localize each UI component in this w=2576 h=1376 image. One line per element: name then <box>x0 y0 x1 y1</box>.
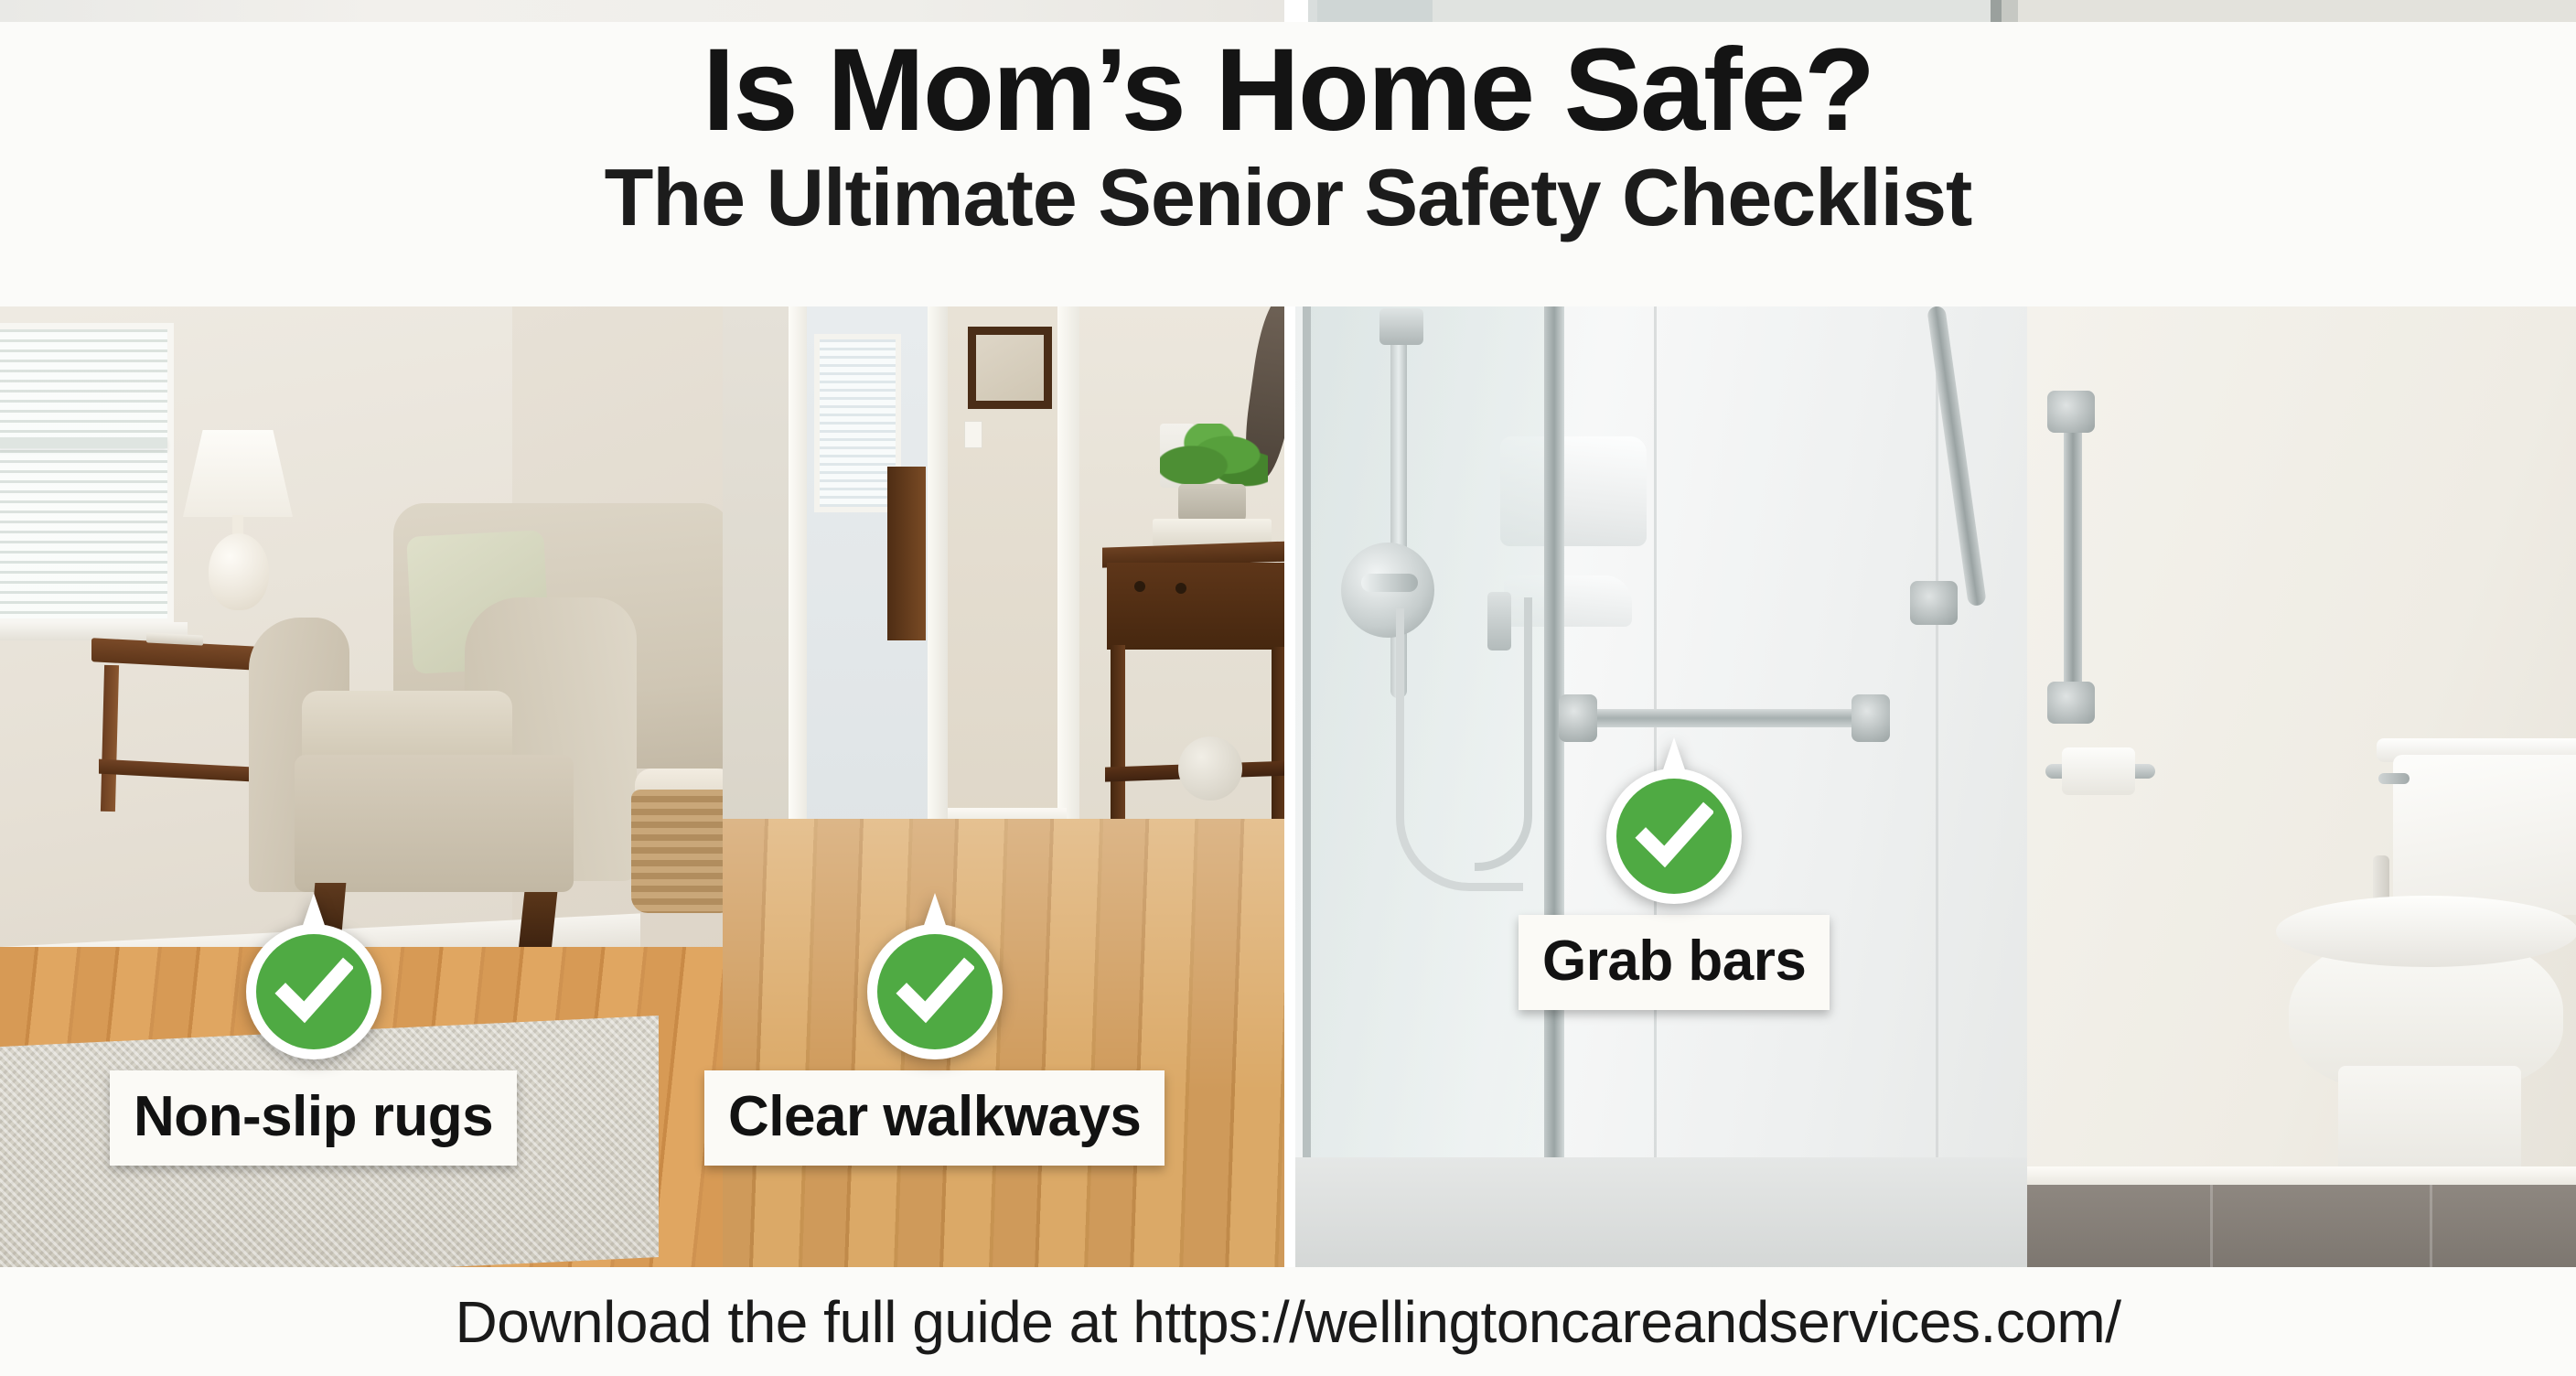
tile-grout-line <box>2430 1185 2432 1267</box>
toilet-seat <box>2276 896 2576 967</box>
checkmark-icon <box>896 952 974 1031</box>
window-blinds <box>0 329 167 618</box>
shower-floor-pan <box>1295 1157 2027 1267</box>
grab-bar-flange <box>1851 694 1890 742</box>
marker-clear-walkways[interactable]: Clear walkways <box>704 924 1165 1166</box>
checkmark-icon <box>1635 797 1713 876</box>
marker-non-slip-rugs[interactable]: Non-slip rugs <box>110 924 517 1166</box>
download-guide-text[interactable]: Download the full guide at https://welli… <box>456 1288 2121 1356</box>
checkmark-icon <box>274 952 353 1031</box>
grab-bar-flange <box>1910 581 1958 625</box>
dark-wood-cabinet <box>887 467 926 640</box>
armchair-base <box>295 755 574 892</box>
badge-circle <box>1616 779 1732 894</box>
drawer-knob <box>1134 581 1145 592</box>
senior-safety-poster: Is Mom’s Home Safe? The Ultimate Senior … <box>0 0 2576 1376</box>
shower-valve-lever <box>1361 574 1418 592</box>
page-title: Is Mom’s Home Safe? <box>0 22 2576 152</box>
potted-plant-foliage <box>1160 424 1268 493</box>
toilet-paper-roll <box>2062 747 2135 795</box>
check-circle-icon <box>867 924 1003 1059</box>
blind-rail <box>0 437 167 448</box>
shower-grab-bar-horizontal <box>1570 709 1872 727</box>
console-table-leg <box>1272 647 1284 821</box>
decorative-orb <box>1178 736 1242 801</box>
light-switch <box>964 421 982 448</box>
bathroom-photo <box>1295 306 2576 1267</box>
toilet-tank <box>2393 755 2576 915</box>
badge-circle <box>877 934 993 1049</box>
marker-label-non-slip-rugs: Non-slip rugs <box>110 1070 517 1166</box>
grab-bar-flange <box>2047 682 2095 724</box>
marker-grab-bars[interactable]: Grab bars <box>1519 769 1830 1010</box>
tile-grout-line <box>2210 1185 2213 1267</box>
panel-divider <box>1284 306 1295 1267</box>
door-trim <box>789 306 807 892</box>
armchair-leg <box>519 892 558 951</box>
badge-circle <box>256 934 371 1049</box>
header-band: Is Mom’s Home Safe? The Ultimate Senior … <box>0 22 2576 306</box>
hallway-wall-left <box>723 306 791 874</box>
check-circle-icon <box>246 924 381 1059</box>
console-table-leg <box>1111 645 1125 823</box>
table-lamp-base <box>209 533 269 610</box>
photo-top-sliver <box>0 0 2576 22</box>
check-circle-icon <box>1606 769 1742 904</box>
door-trim <box>1057 306 1081 892</box>
marker-label-grab-bars: Grab bars <box>1519 915 1830 1010</box>
console-table-drawers <box>1107 563 1284 650</box>
sliver-right-photo <box>1295 0 2576 22</box>
sliver-left-photo <box>0 0 1284 22</box>
woven-basket <box>631 790 736 913</box>
bathroom-tile-floor <box>2027 1185 2576 1267</box>
sliver-divider <box>1284 0 1295 22</box>
shower-wall-seam <box>1654 306 1657 1221</box>
shower-door-frame <box>1544 306 1564 1221</box>
window <box>0 323 174 625</box>
grab-bar-flange <box>1559 694 1597 742</box>
framed-artwork <box>968 327 1052 409</box>
handheld-shower-head <box>1487 592 1511 650</box>
door-trim <box>928 306 948 883</box>
toilet-flush-lever <box>2378 773 2410 784</box>
grab-bar-flange <box>2047 391 2095 433</box>
panel-bathroom <box>1295 306 2576 1267</box>
toilet-grab-bar-vertical <box>2064 407 2082 709</box>
shower-door-frame <box>1303 306 1311 1221</box>
marker-label-clear-walkways: Clear walkways <box>704 1070 1165 1166</box>
drawer-knob <box>1175 583 1186 594</box>
page-subtitle: The Ultimate Senior Safety Checklist <box>0 152 2576 240</box>
shower-wall-seam <box>1936 306 1938 1221</box>
shower-head-icon <box>1379 308 1423 345</box>
footer-band: Download the full guide at https://welli… <box>0 1267 2576 1376</box>
